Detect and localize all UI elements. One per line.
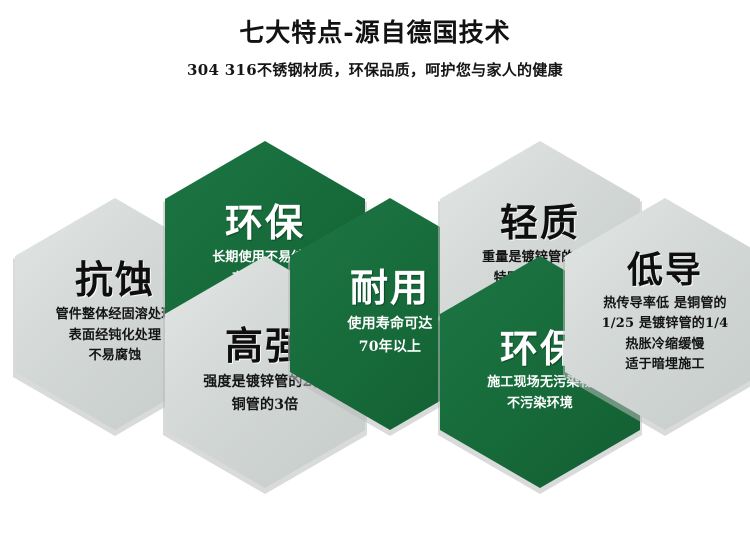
hex-line: 铜管的3倍 <box>203 394 327 417</box>
hex-lines: 热传导率低 是铜管的 1/25 是镀锌管的1/4 热胀冷缩缓慢 适于暗埋施工 <box>602 294 729 376</box>
hex-lines: 管件整体经固溶处理 表面经钝化处理 不易腐蚀 <box>56 305 175 367</box>
hex-line: 不污染环境 <box>487 394 593 415</box>
hex-headline: 环保 <box>225 204 305 244</box>
hex-line: 热传导率低 是铜管的 <box>602 294 729 315</box>
hex-headline: 抗蚀 <box>75 261 155 301</box>
hex-line: 不易腐蚀 <box>56 346 175 367</box>
hex-line: 使用寿命可达 <box>347 313 432 336</box>
hex-line: 表面经钝化处理 <box>56 326 175 347</box>
hex-line: 70年以上 <box>347 336 432 359</box>
hex-line: 热胀冷缩缓慢 <box>602 335 729 356</box>
hex-line: 1/25 是镀锌管的1/4 <box>602 314 729 335</box>
feature-honeycomb: 抗蚀 管件整体经固溶处理 表面经钝化处理 不易腐蚀 环保 长期使用不易结垢 有效… <box>0 0 750 533</box>
hex-line: 适于暗埋施工 <box>602 355 729 376</box>
hex-headline: 耐用 <box>350 269 430 309</box>
hex-lines: 使用寿命可达 70年以上 <box>347 313 432 358</box>
hex-headline: 低导 <box>627 252 703 290</box>
hex-headline: 轻质 <box>500 204 580 244</box>
hex-line: 管件整体经固溶处理 <box>56 305 175 326</box>
